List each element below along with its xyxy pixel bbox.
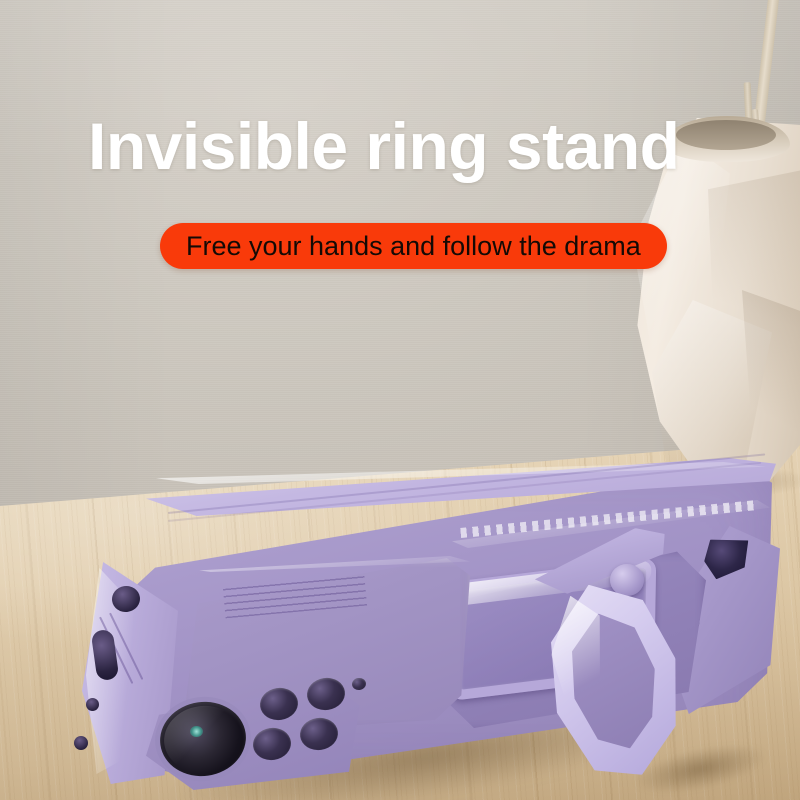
lens-glint <box>190 726 203 737</box>
status-badge: Free your hands and follow the drama <box>160 223 667 269</box>
microphone-cutout <box>86 698 99 711</box>
product-banner-scene: Invisible ring stand Free your hands and… <box>0 0 800 800</box>
phone-case-product <box>64 430 784 800</box>
page-title: Invisible ring stand <box>88 113 788 179</box>
microphone-cutout <box>74 736 88 750</box>
